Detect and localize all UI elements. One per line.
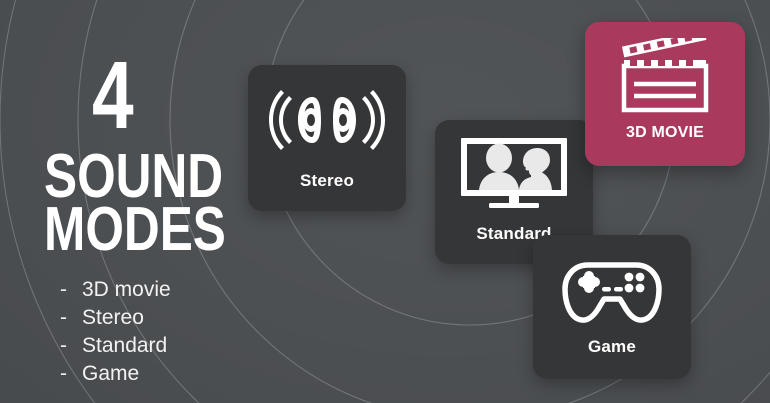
headline-line-2: MODES <box>44 205 226 256</box>
list-bullet-dash: - <box>60 276 82 304</box>
mode-card-label: Stereo <box>248 171 406 191</box>
sound-modes-banner: 4 SOUND MODES -3D movie -Stereo -Standar… <box>0 0 770 403</box>
list-item: -Game <box>60 360 171 388</box>
mode-list: -3D movie -Stereo -Standard -Game <box>60 276 171 388</box>
mode-card-3d-movie[interactable]: 3D MOVIE <box>585 22 745 166</box>
list-item: -Standard <box>60 332 171 360</box>
list-item: -3D movie <box>60 276 171 304</box>
list-item-label: 3D movie <box>82 278 171 301</box>
list-item-label: Standard <box>82 334 167 357</box>
list-bullet-dash: - <box>60 304 82 332</box>
list-item-label: Game <box>82 362 139 385</box>
mode-card-label: 3D MOVIE <box>585 124 745 142</box>
headline-block: 4 SOUND MODES -3D movie -Stereo -Standar… <box>0 0 260 403</box>
mode-card-stereo[interactable]: Stereo <box>248 65 406 211</box>
mode-count: 4 <box>92 58 133 135</box>
clapperboard-icon <box>585 22 745 114</box>
mode-card-game[interactable]: Game <box>533 235 691 379</box>
stereo-speakers-icon <box>248 65 406 157</box>
tv-two-people-icon <box>435 120 593 212</box>
mode-card-label: Game <box>533 337 691 357</box>
list-item: -Stereo <box>60 304 171 332</box>
list-item-label: Stereo <box>82 306 144 329</box>
list-bullet-dash: - <box>60 360 82 388</box>
list-bullet-dash: - <box>60 332 82 360</box>
gamepad-icon <box>533 235 691 327</box>
